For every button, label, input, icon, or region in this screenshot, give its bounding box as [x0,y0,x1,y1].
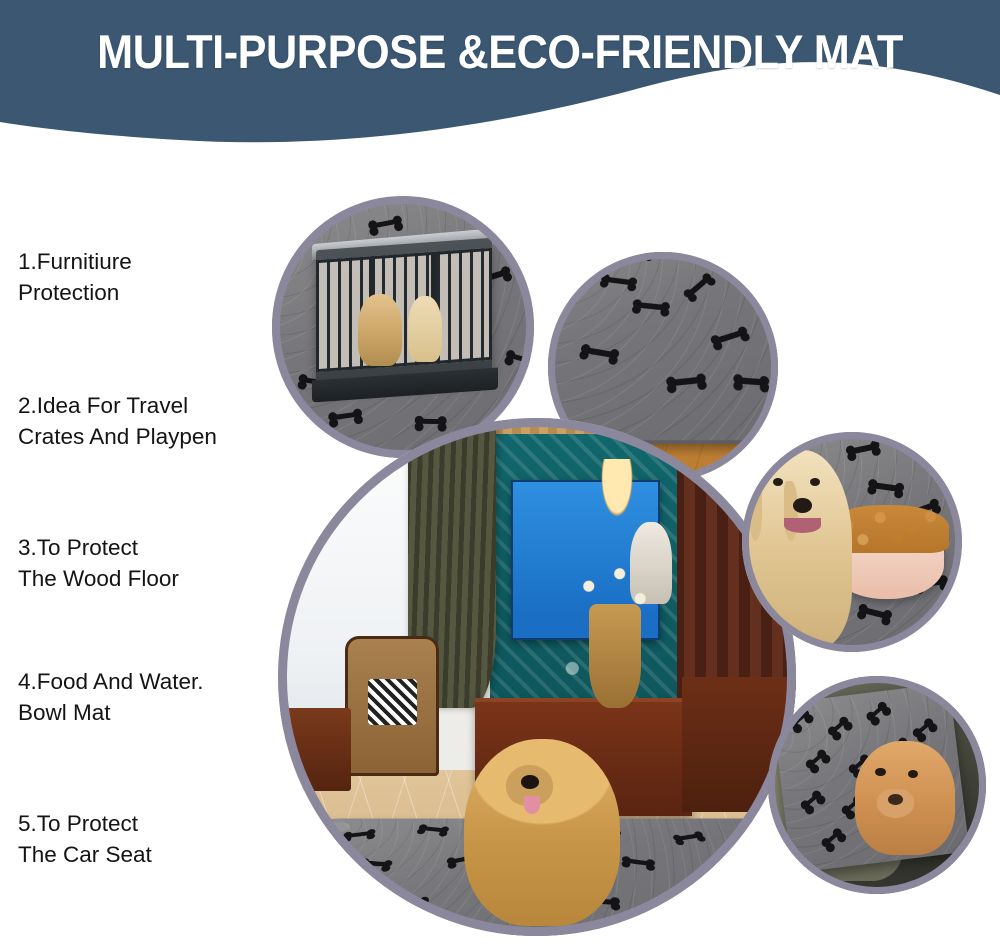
infographic-page: MULTI-PURPOSE &ECO-FRIENDLY MAT 1.Furnit… [0,0,1000,946]
photo-collage [0,0,1000,946]
photo-food-bowl [742,432,962,652]
room-coffee-table [278,708,351,791]
room-wall-lamp [599,459,635,521]
car-puppy-nose [888,794,903,805]
crate-body [316,238,492,390]
bowl-scene [742,432,962,652]
car-scene [768,676,986,894]
car-puppy-eye-left [875,768,886,777]
photo-living-room [278,418,796,936]
room-dog-nose [521,775,539,788]
crate-dog-second [408,296,442,362]
room-armchair [345,636,439,777]
bowl-dog [746,450,852,648]
room-dog-tongue [524,796,540,814]
room-vase [589,604,641,708]
wood-mat-surface [548,252,778,444]
crate-dog [358,294,402,366]
photo-car-seat [768,676,986,894]
bowl-dog-ear-left [749,481,763,540]
room-dog [464,739,619,925]
bowl-dog-eye-left [773,478,783,486]
room-scene [278,418,796,936]
room-chair-pillow [368,679,417,725]
